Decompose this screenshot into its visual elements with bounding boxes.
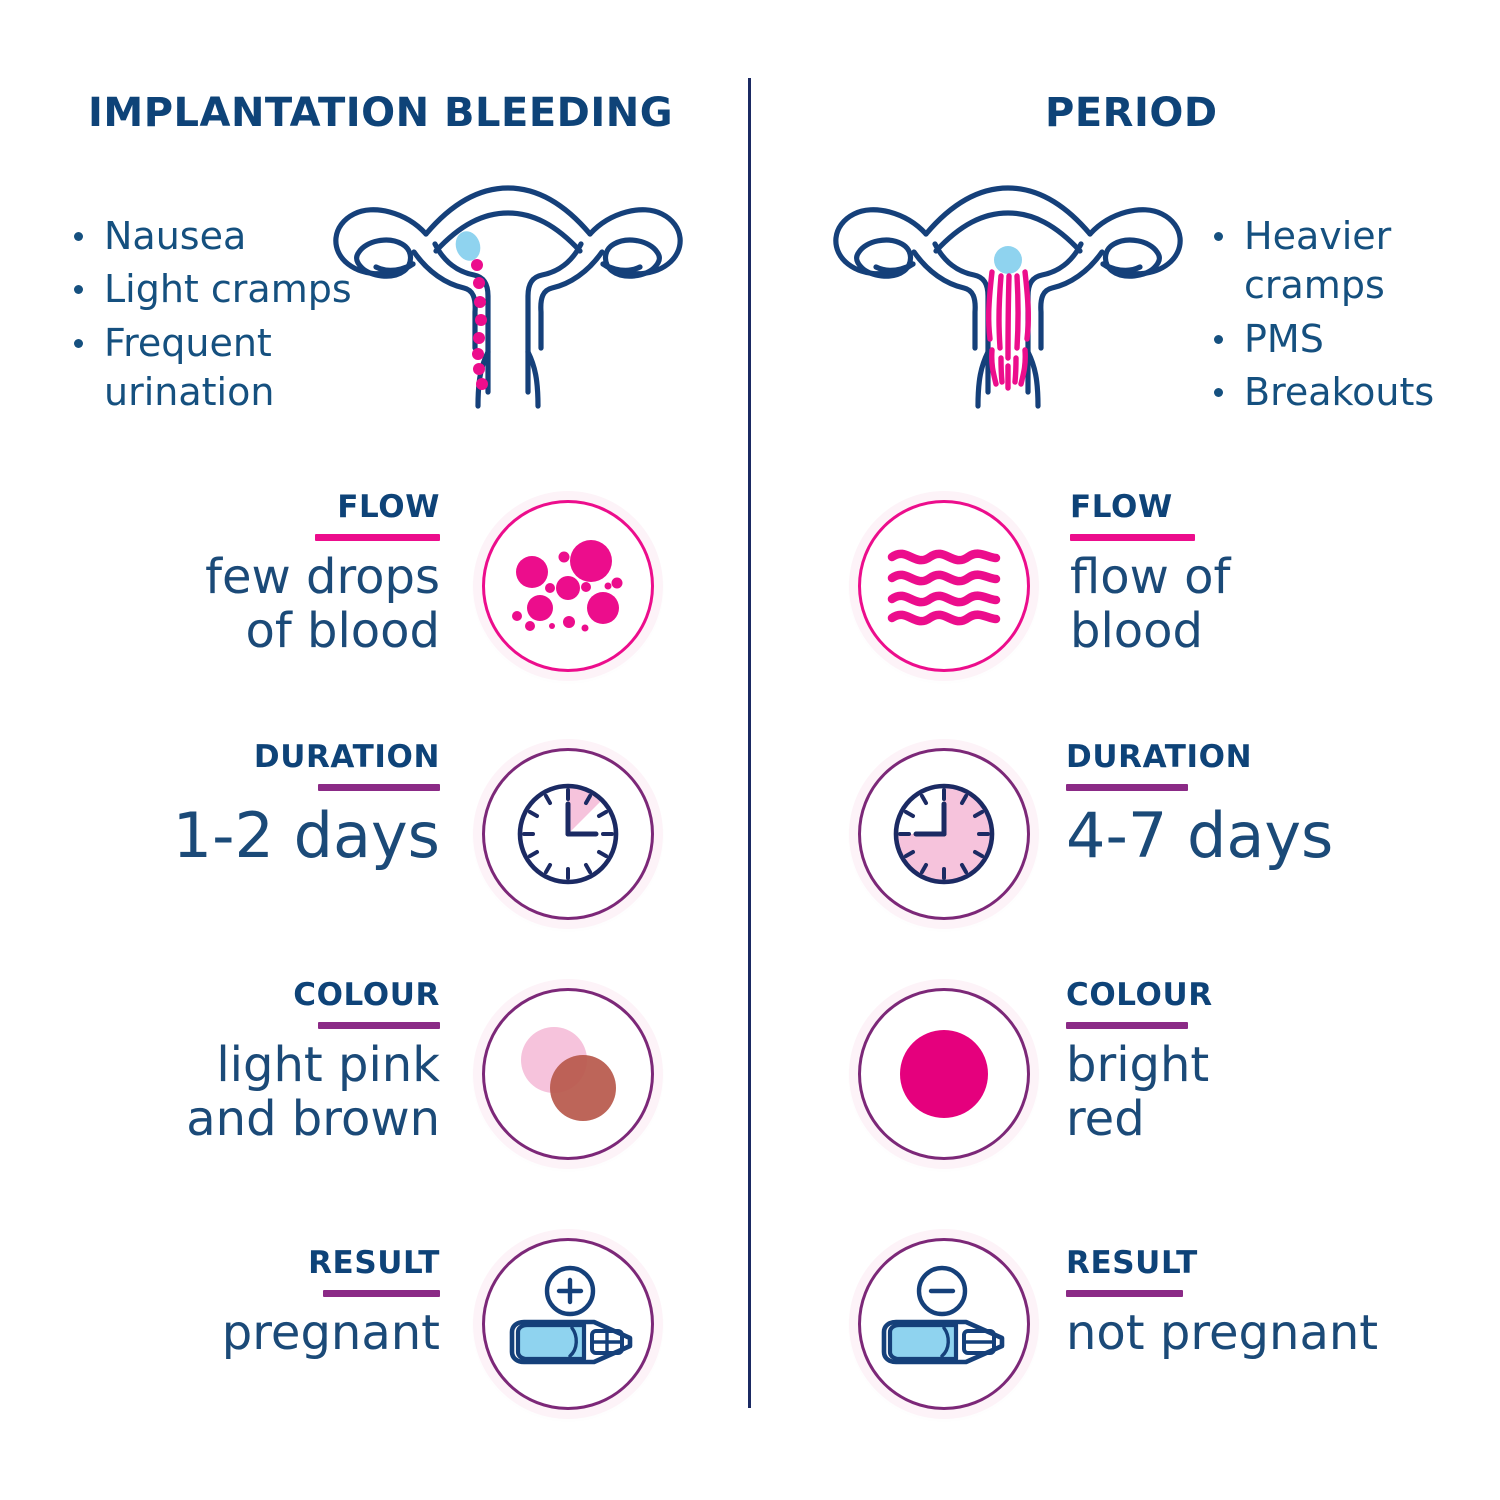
row-label: DURATION — [120, 742, 440, 773]
flow-text-left: FLOW few drops of blood — [140, 492, 440, 659]
row-label: COLOUR — [130, 980, 440, 1011]
list-item: Nausea — [68, 212, 352, 261]
duration-text-right: DURATION 4-7 days — [1066, 742, 1426, 870]
two-colour-circles-icon — [482, 988, 654, 1160]
row-label: RESULT — [1066, 1248, 1486, 1279]
row-value: not pregnant — [1066, 1307, 1486, 1361]
result-text-left: RESULT pregnant — [150, 1248, 440, 1361]
flow-text-right: FLOW flow of blood — [1070, 492, 1400, 659]
label-underline — [1066, 1290, 1183, 1297]
row-value: light pink and brown — [130, 1039, 440, 1147]
result-icon-right-wrap — [858, 1238, 1030, 1410]
flow-icon-right-wrap — [858, 500, 1030, 672]
symptom-list-implantation: Nausea Light cramps Frequent urination — [68, 212, 352, 422]
list-item: Breakouts — [1208, 368, 1434, 417]
row-label: RESULT — [150, 1248, 440, 1279]
label-underline — [318, 784, 440, 791]
colour-icon-left-wrap — [482, 988, 654, 1160]
colour-text-right: COLOUR bright red — [1066, 980, 1396, 1147]
list-item: Heavier cramps — [1208, 212, 1434, 311]
row-value: few drops of blood — [140, 551, 440, 659]
row-label: FLOW — [1070, 492, 1400, 523]
clock-large-wedge-icon — [858, 748, 1030, 920]
duration-icon-right-wrap — [858, 748, 1030, 920]
row-label: FLOW — [140, 492, 440, 523]
column-title-implantation-bleeding: IMPLANTATION BLEEDING — [88, 90, 673, 136]
uterus-with-implantation-spotting-icon — [318, 172, 698, 416]
colour-text-left: COLOUR light pink and brown — [130, 980, 440, 1147]
row-value: bright red — [1066, 1039, 1396, 1147]
label-underline — [315, 534, 440, 541]
pregnancy-test-negative-icon — [858, 1238, 1030, 1410]
duration-icon-left-wrap — [482, 748, 654, 920]
list-item: Frequent urination — [68, 319, 352, 418]
colour-icon-right-wrap — [858, 988, 1030, 1160]
label-underline — [323, 1290, 440, 1297]
column-title-period: PERIOD — [1045, 90, 1218, 136]
duration-text-left: DURATION 1-2 days — [120, 742, 440, 870]
clock-small-wedge-icon — [482, 748, 654, 920]
label-underline — [1070, 534, 1195, 541]
label-underline — [1066, 784, 1188, 791]
uterus-with-menstrual-flow-icon — [818, 172, 1198, 416]
label-underline — [1066, 1022, 1188, 1029]
flow-waves-icon — [858, 500, 1030, 672]
result-text-right: RESULT not pregnant — [1066, 1248, 1486, 1361]
bright-red-circle-icon — [858, 988, 1030, 1160]
pregnancy-test-positive-icon — [482, 1238, 654, 1410]
label-underline — [318, 1022, 440, 1029]
list-item: Light cramps — [68, 265, 352, 314]
row-label: COLOUR — [1066, 980, 1396, 1011]
row-label: DURATION — [1066, 742, 1426, 773]
column-divider — [748, 78, 751, 1408]
result-icon-left-wrap — [482, 1238, 654, 1410]
row-value: pregnant — [150, 1307, 440, 1361]
blood-drops-icon — [482, 500, 654, 672]
symptom-list-period: Heavier cramps PMS Breakouts — [1208, 212, 1434, 422]
list-item: PMS — [1208, 315, 1434, 364]
flow-icon-left-wrap — [482, 500, 654, 672]
row-value: flow of blood — [1070, 551, 1400, 659]
row-value: 1-2 days — [120, 801, 440, 870]
row-value: 4-7 days — [1066, 801, 1426, 870]
